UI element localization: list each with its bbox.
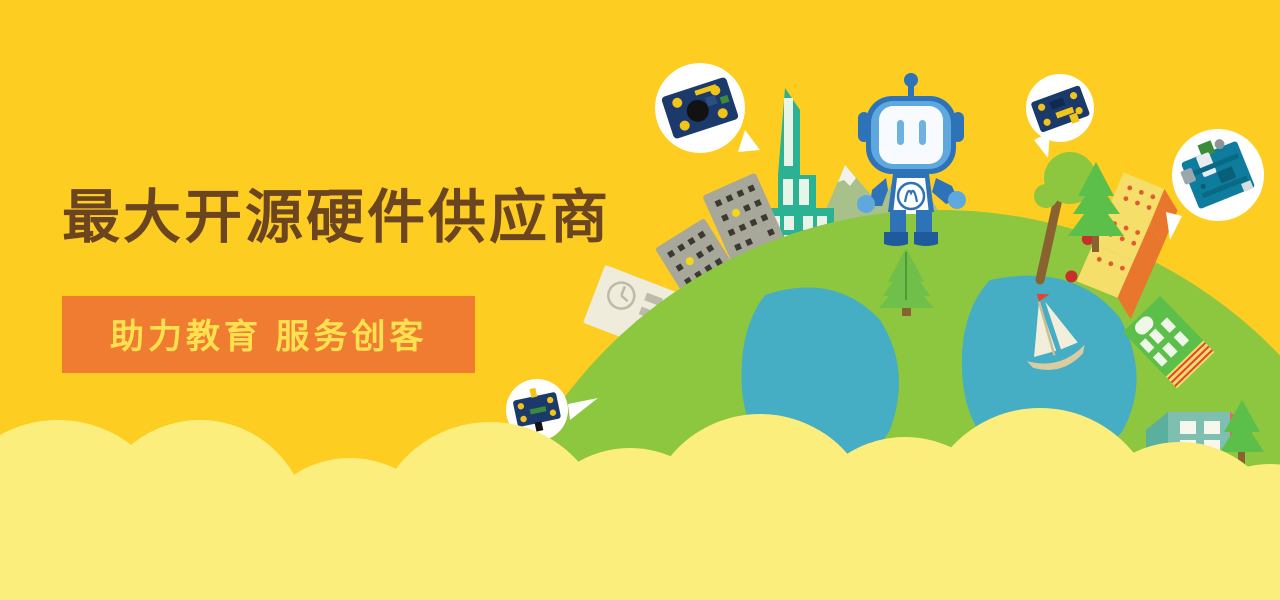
banner-text-block: 最大开源硬件供应商 助力教育 服务创客	[62, 186, 611, 373]
promo-banner: 最大开源硬件供应商 助力教育 服务创客	[0, 0, 1280, 600]
tagline-badge: 助力教育 服务创客	[62, 296, 475, 373]
tagline-text: 助力教育 服务创客	[110, 309, 427, 358]
page-title: 最大开源硬件供应商	[62, 186, 611, 250]
